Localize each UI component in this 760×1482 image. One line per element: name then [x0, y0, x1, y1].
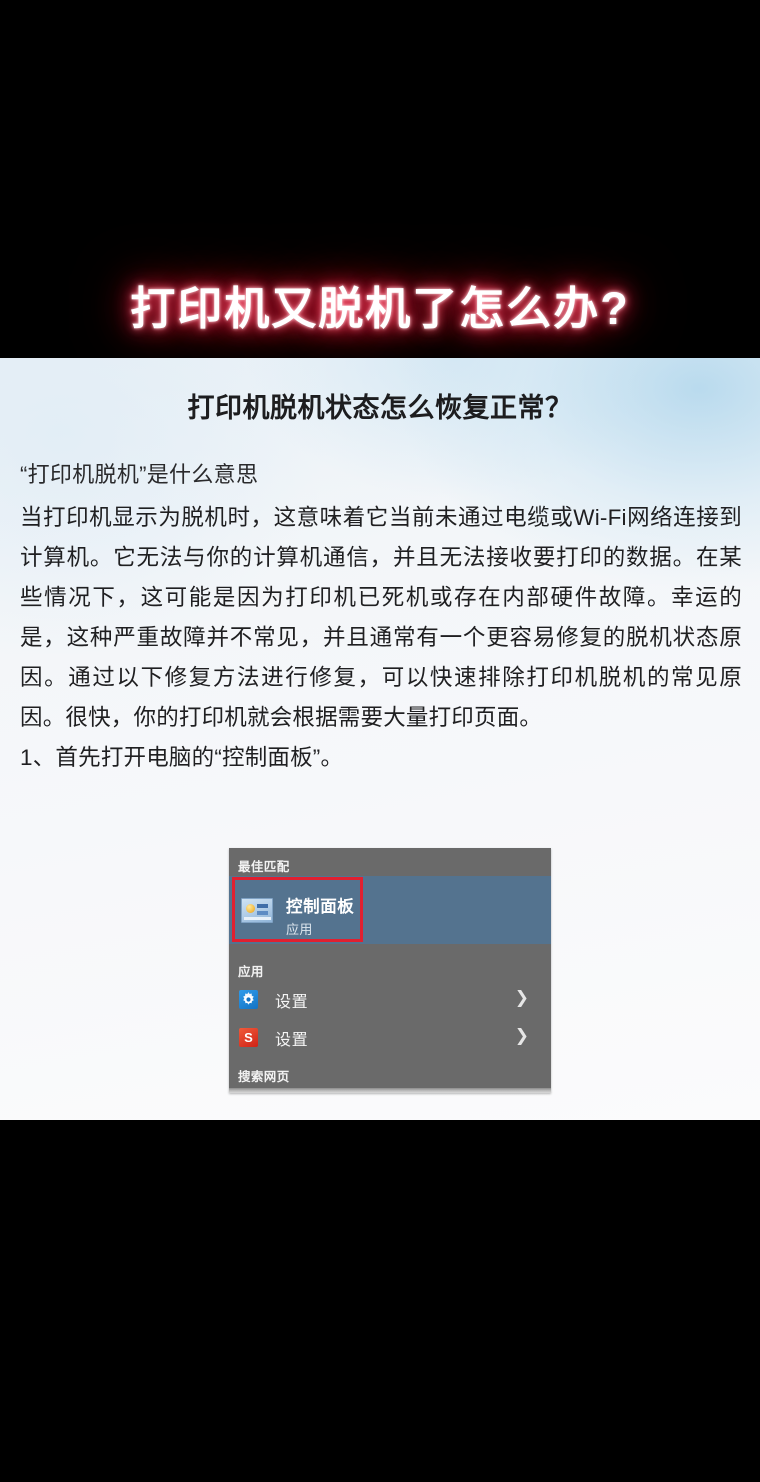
article-step-1: 1、首先打开电脑的“控制面板”。 — [20, 740, 742, 776]
article-content-sheet: 打印机脱机状态怎么恢复正常？ “打印机脱机”是什么意思 当打印机显示为脱机时，这… — [0, 358, 760, 1120]
best-match-result-row[interactable]: 控制面板 应用 — [229, 876, 551, 944]
chevron-right-icon[interactable]: ❯ — [515, 1027, 529, 1044]
app-list-item-sogou-settings[interactable]: S 设置 ❯ — [229, 1020, 551, 1056]
apps-section-label: 应用 — [238, 961, 264, 980]
app-list-item-label: 设置 — [275, 1026, 308, 1050]
panel-bottom-edge — [229, 1088, 551, 1093]
best-match-subtitle: 应用 — [286, 919, 313, 938]
bottom-black-bar — [0, 1120, 760, 1482]
banner-title: 打印机又脱机了怎么办? — [0, 272, 760, 337]
chevron-right-icon[interactable]: ❯ — [515, 989, 529, 1006]
svg-text:S: S — [244, 1030, 253, 1045]
page-root: 打印机又脱机了怎么办? 打印机脱机状态怎么恢复正常？ “打印机脱机”是什么意思 … — [0, 0, 760, 1482]
windows-search-panel-screenshot: 最佳匹配 控制面板 应用 应用 — [229, 848, 551, 1093]
top-banner: 打印机又脱机了怎么办? — [0, 0, 760, 358]
app-list-item-label: 设置 — [275, 988, 308, 1012]
control-panel-icon — [241, 898, 273, 923]
article-lead-line: “打印机脱机”是什么意思 — [20, 458, 742, 492]
search-web-section-label: 搜索网页 — [238, 1066, 290, 1085]
article-body: “打印机脱机”是什么意思 当打印机显示为脱机时，这意味着它当前未通过电缆或Wi-… — [20, 458, 742, 777]
article-paragraph: 当打印机显示为脱机时，这意味着它当前未通过电缆或Wi-Fi网络连接到计算机。它无… — [20, 498, 742, 738]
best-match-title: 控制面板 — [286, 893, 354, 917]
sogou-s-icon: S — [239, 1028, 258, 1047]
app-list-item-settings[interactable]: 设置 ❯ — [229, 982, 551, 1018]
best-match-section-label: 最佳匹配 — [238, 856, 290, 875]
settings-gear-icon — [239, 990, 258, 1009]
article-heading: 打印机脱机状态怎么恢复正常？ — [0, 386, 760, 425]
